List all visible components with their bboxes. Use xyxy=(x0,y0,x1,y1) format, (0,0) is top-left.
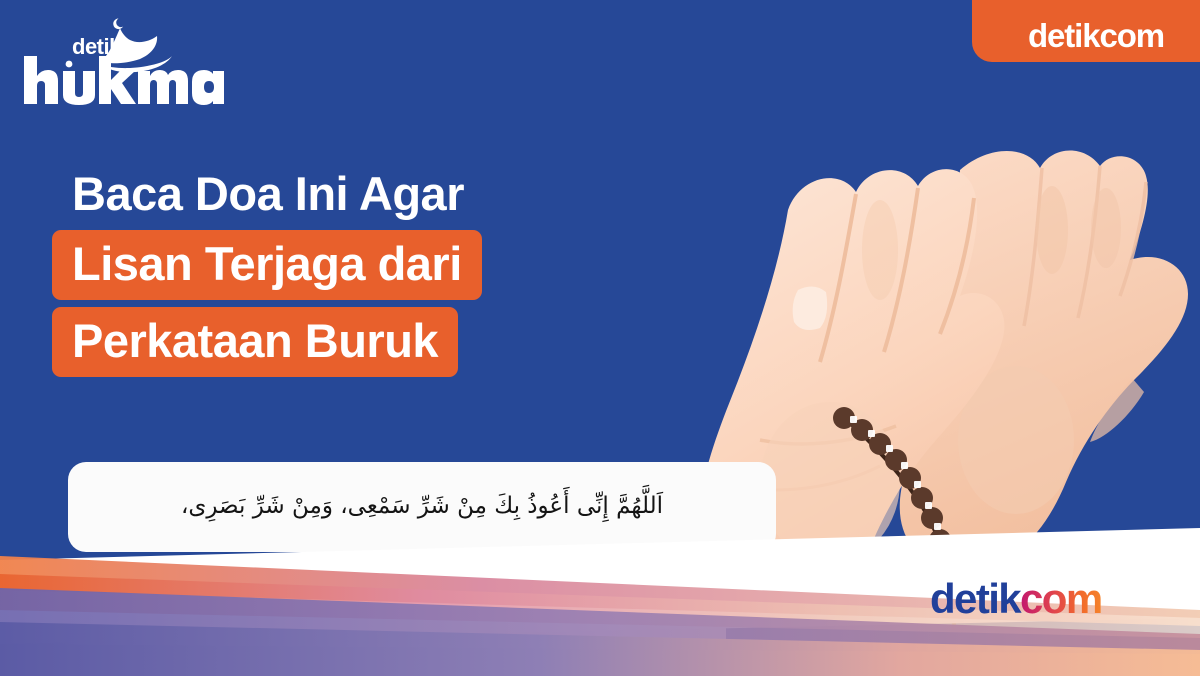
detik-hikmah-logo: detik xyxy=(14,12,229,112)
headline-group: Baca Doa Ini Agar Lisan Terjaga dari Per… xyxy=(52,166,692,377)
arabic-card-secondary: وَمِنْ شَرِّ لِسَانِى، وَمِنْ شَرِّ قَلْ… xyxy=(68,570,726,658)
praying-hands-illustration xyxy=(660,110,1200,630)
crescent-icon xyxy=(113,19,123,30)
detikcom-footer-logo[interactable]: detikcom xyxy=(930,578,1102,620)
logo-hikmah-wordmark xyxy=(24,56,224,105)
headline-line-2: Lisan Terjaga dari xyxy=(52,230,482,300)
detikcom-badge[interactable]: detikcom xyxy=(972,0,1200,62)
arabic-card-primary: اَللَّهُمَّ إِنِّى أَعُوذُ بِكَ مِنْ شَر… xyxy=(68,462,776,552)
detikcom-badge-wordmark: detikcom xyxy=(1028,19,1164,52)
headline-line-1: Baca Doa Ini Agar xyxy=(52,166,692,223)
poster-canvas: detik detikco xyxy=(0,0,1200,676)
arabic-text-line-1: اَللَّهُمَّ إِنِّى أَعُوذُ بِكَ مِنْ شَر… xyxy=(181,485,663,529)
footer-detik-text: detik xyxy=(930,575,1020,622)
hikmah-logo-svg: detik xyxy=(14,12,229,112)
logo-detik-text: detik xyxy=(72,34,122,59)
arabic-text-line-2: وَمِنْ شَرِّ لِسَانِى، وَمِنْ شَرِّ قَلْ… xyxy=(176,592,618,636)
footer-com-text: com xyxy=(1020,575,1102,622)
headline-line-3: Perkataan Buruk xyxy=(52,307,458,377)
